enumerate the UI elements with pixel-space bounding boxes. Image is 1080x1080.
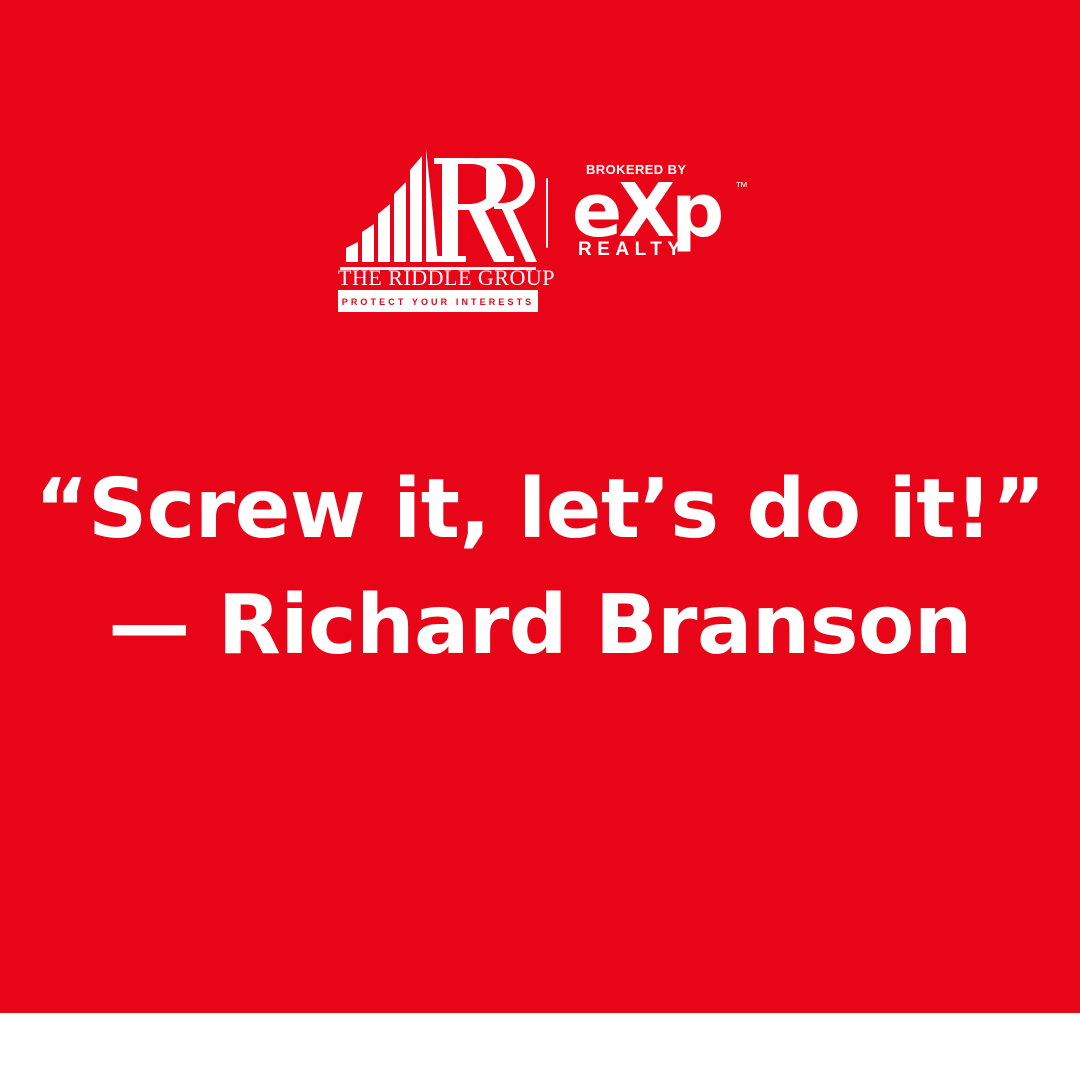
exp-realty-logo: BROKERED BY eXp ™ REALTY — [572, 162, 742, 272]
vertical-divider-icon — [546, 178, 548, 248]
quote-text: “Screw it, let’s do it!” — [0, 452, 1080, 568]
riddle-group-name: THE RIDDLE GROUP — [338, 267, 538, 289]
riddle-group-tagline: PROTECT YOUR INTERESTS — [342, 297, 535, 307]
bottom-white-strip — [0, 1013, 1080, 1080]
exp-wordmark-group: eXp ™ — [572, 175, 742, 247]
quote-attribution: — Richard Branson — [0, 568, 1080, 684]
skyline-bars-icon — [346, 148, 438, 262]
riddle-group-logo: THE RIDDLE GROUP PROTECT YOUR INTERESTS — [338, 140, 538, 288]
logo-lockup: THE RIDDLE GROUP PROTECT YOUR INTERESTS … — [0, 140, 1080, 290]
riddle-group-tagline-bar: PROTECT YOUR INTERESTS — [338, 290, 538, 312]
quote-block: “Screw it, let’s do it!” — Richard Brans… — [0, 452, 1080, 684]
riddle-group-wordmark: THE RIDDLE GROUP PROTECT YOUR INTERESTS — [338, 267, 538, 312]
exp-wordmark: eXp — [572, 175, 720, 247]
poster-canvas: THE RIDDLE GROUP PROTECT YOUR INTERESTS … — [0, 0, 1080, 1080]
exp-trademark-icon: ™ — [735, 179, 748, 194]
rr-monogram-icon — [434, 158, 537, 262]
